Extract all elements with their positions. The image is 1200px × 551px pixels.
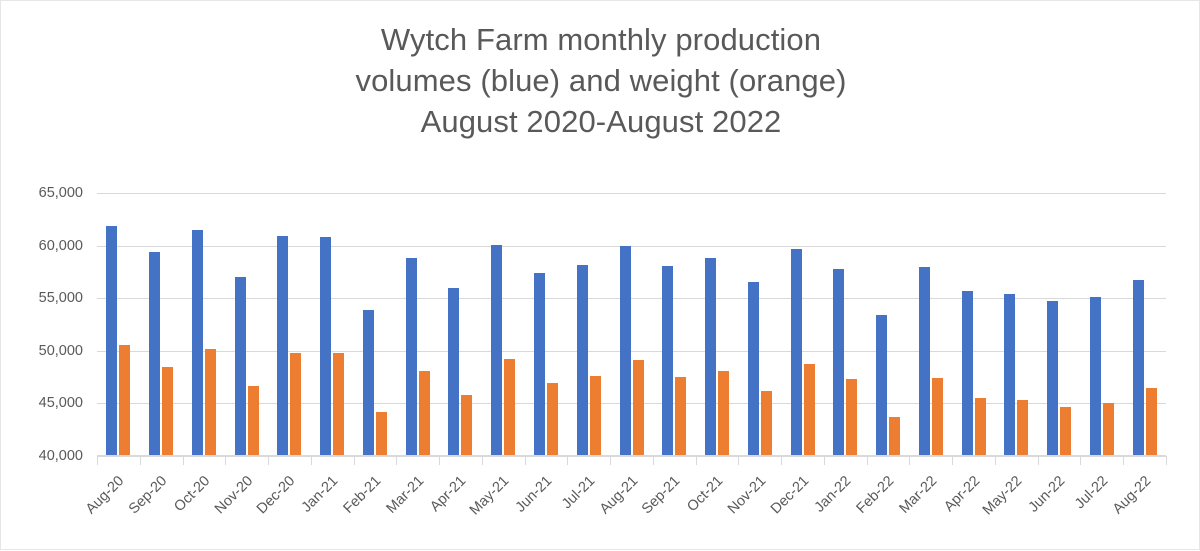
bar-weight[interactable] [846,379,857,456]
x-tick-label: Nov-20 [212,473,256,517]
y-tick-label: 55,000 [9,290,83,306]
bar-weight[interactable] [547,383,558,456]
bar-weight[interactable] [205,349,216,456]
x-tick [738,456,739,465]
bar-group[interactable] [149,193,173,456]
x-axis-labels: Aug-20Sep-20Oct-20Nov-20Dec-20Jan-21Feb-… [97,467,1166,551]
plot-area [97,193,1166,456]
x-tick [1166,456,1167,465]
bar-weight[interactable] [804,364,815,456]
x-tick-label: Aug-22 [1110,473,1154,517]
x-tick-label: Apr-21 [428,473,470,515]
y-tick-label: 45,000 [9,395,83,411]
x-tick [567,456,568,465]
bar-volume[interactable] [1133,280,1144,456]
chart-title: Wytch Farm monthly production volumes (b… [1,19,1200,142]
bar-volume[interactable] [534,273,545,456]
bar-volume[interactable] [149,252,160,456]
x-tick [867,456,868,465]
bar-group[interactable] [962,193,986,456]
x-tick-label: Apr-22 [941,473,983,515]
x-tick-label: May-22 [980,473,1026,519]
x-tick-label: Feb-21 [340,473,384,517]
bar-group[interactable] [534,193,558,456]
x-tick [653,456,654,465]
bar-volume[interactable] [748,282,759,456]
y-tick-label: 40,000 [9,448,83,464]
x-tick [396,456,397,465]
bar-weight[interactable] [590,376,601,456]
x-tick [952,456,953,465]
bar-volume[interactable] [620,246,631,456]
x-tick-label: Oct-21 [684,473,726,515]
bar-weight[interactable] [1103,403,1114,456]
x-tick-label: Dec-21 [767,473,811,517]
bar-group[interactable] [833,193,857,456]
bar-volume[interactable] [363,310,374,456]
bar-volume[interactable] [235,277,246,456]
bars-layer [97,193,1166,456]
bar-group[interactable] [620,193,644,456]
x-tick [824,456,825,465]
bar-weight[interactable] [461,395,472,456]
bar-volume[interactable] [106,226,117,456]
x-tick-label: Feb-22 [854,473,898,517]
bar-volume[interactable] [1047,301,1058,456]
x-tick-label: Mar-22 [896,473,940,517]
bar-group[interactable] [1133,193,1157,456]
bar-weight[interactable] [932,378,943,456]
x-tick [482,456,483,465]
x-tick-label: Jan-21 [299,473,342,516]
bar-weight[interactable] [376,412,387,456]
bar-group[interactable] [277,193,301,456]
bar-volume[interactable] [705,258,716,456]
bar-weight[interactable] [975,398,986,456]
y-tick-label: 65,000 [9,185,83,201]
bar-weight[interactable] [761,391,772,456]
bar-weight[interactable] [718,371,729,456]
x-tick [995,456,996,465]
x-tick [311,456,312,465]
bar-weight[interactable] [889,417,900,456]
bar-weight[interactable] [675,377,686,456]
x-tick-label: Jan-22 [812,473,855,516]
bar-group[interactable] [876,193,900,456]
x-axis-ticks [97,456,1166,465]
bar-group[interactable] [320,193,344,456]
x-tick [1080,456,1081,465]
bar-weight[interactable] [633,360,644,456]
x-tick [610,456,611,465]
bar-volume[interactable] [192,230,203,456]
x-tick-label: Sep-21 [639,473,683,517]
x-tick [268,456,269,465]
bar-group[interactable] [1004,193,1028,456]
bar-group[interactable] [662,193,686,456]
x-tick-label: Jul-21 [559,473,598,512]
bar-volume[interactable] [448,288,459,456]
x-tick-label: Nov-21 [725,473,769,517]
bar-volume[interactable] [962,291,973,456]
bar-volume[interactable] [1090,297,1101,456]
bar-weight[interactable] [162,367,173,456]
bar-group[interactable] [791,193,815,456]
x-tick [183,456,184,465]
bar-weight[interactable] [248,386,259,456]
x-tick [781,456,782,465]
x-tick-label: Aug-20 [83,473,127,517]
x-tick [97,456,98,465]
bar-volume[interactable] [406,258,417,456]
x-tick-label: Jun-22 [1026,473,1069,516]
x-tick-label: Sep-20 [126,473,170,517]
y-tick-label: 60,000 [9,238,83,254]
bar-group[interactable] [577,193,601,456]
bar-weight[interactable] [1017,400,1028,456]
bar-volume[interactable] [876,315,887,456]
bar-group[interactable] [919,193,943,456]
bar-group[interactable] [192,193,216,456]
bar-group[interactable] [235,193,259,456]
bar-weight[interactable] [1060,407,1071,456]
bar-volume[interactable] [833,269,844,456]
x-tick-label: Oct-20 [171,473,213,515]
bar-group[interactable] [1090,193,1114,456]
bar-weight[interactable] [290,353,301,456]
x-tick [1123,456,1124,465]
bar-volume[interactable] [919,267,930,456]
bar-group[interactable] [748,193,772,456]
y-tick-label: 50,000 [9,343,83,359]
x-tick [140,456,141,465]
bar-group[interactable] [705,193,729,456]
x-tick [696,456,697,465]
bar-weight[interactable] [504,359,515,456]
bar-weight[interactable] [1146,388,1157,456]
x-tick [909,456,910,465]
bar-weight[interactable] [333,353,344,456]
bar-group[interactable] [1047,193,1071,456]
x-tick-label: Jun-21 [513,473,556,516]
x-tick-label: Aug-21 [596,473,640,517]
bar-volume[interactable] [1004,294,1015,456]
x-tick-label: May-21 [467,473,513,519]
bar-group[interactable] [491,193,515,456]
bar-volume[interactable] [491,245,502,456]
bar-volume[interactable] [277,236,288,456]
bar-volume[interactable] [791,249,802,456]
bar-weight[interactable] [419,371,430,456]
x-tick [225,456,226,465]
bar-group[interactable] [106,193,130,456]
bar-volume[interactable] [320,237,331,456]
x-tick [439,456,440,465]
bar-weight[interactable] [119,345,130,457]
x-tick [1038,456,1039,465]
bar-group[interactable] [363,193,387,456]
bar-volume[interactable] [577,265,588,456]
chart-container: Wytch Farm monthly production volumes (b… [0,0,1200,550]
bar-volume[interactable] [662,266,673,456]
x-tick [354,456,355,465]
bar-group[interactable] [406,193,430,456]
bar-group[interactable] [448,193,472,456]
x-tick-label: Dec-20 [254,473,298,517]
x-tick-label: Jul-22 [1072,473,1111,512]
x-tick-label: Mar-21 [383,473,427,517]
x-tick [525,456,526,465]
